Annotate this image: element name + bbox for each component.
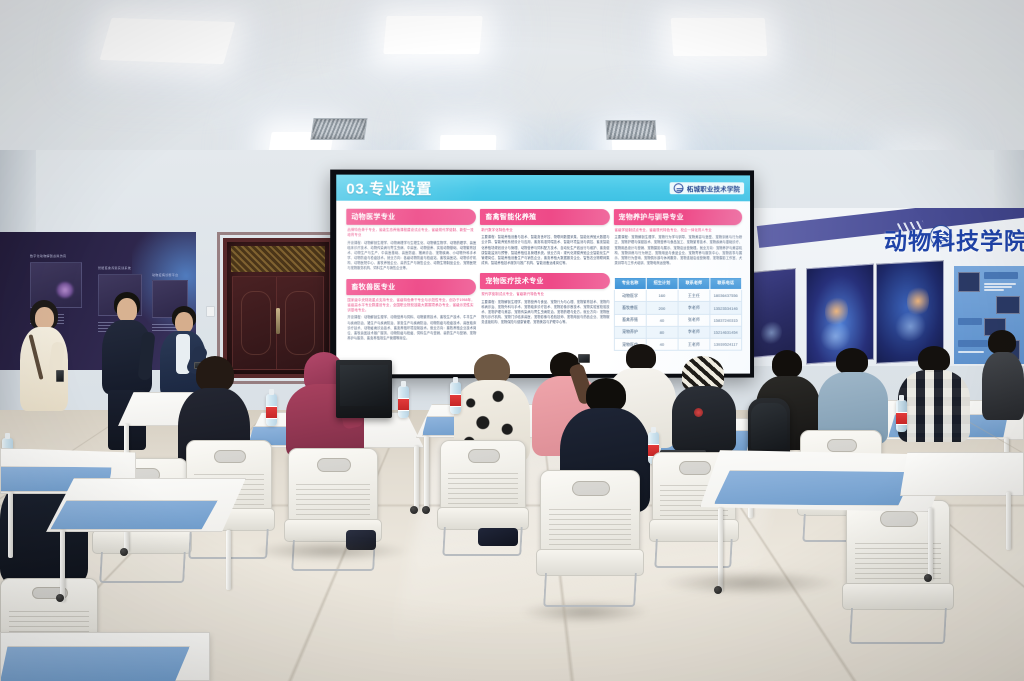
desk-leg [928, 508, 933, 580]
bottle-label [896, 412, 907, 425]
bottle-label [450, 394, 461, 407]
table-row: 畜牧兽医 200 李老师 13523534146 [614, 302, 742, 314]
person-seated-far-right [982, 330, 1024, 420]
program-block: 畜牧兽医专业 国家级中央财政重点支持专业、省级特色骨干专业与示范性专业，创办于1… [346, 279, 476, 342]
chair-back [540, 470, 640, 554]
water-bottle[interactable] [266, 394, 277, 426]
projection-screen: 03.专业设置 柘城职业技术学院 动物医学专业 品牌特色骨干专业，省级生态养殖课… [336, 175, 750, 375]
program-lead: 省级学徒制试点专业，省级现代特色专业，校企一体化育人专业 [615, 228, 743, 233]
hair [196, 356, 234, 392]
exhibit-card-label: 动物疫病诊断平台 [152, 273, 178, 277]
slide-content: 动物医学专业 品牌特色骨干专业，省级生态养殖课程建设试点专业，省级现代学徒制、新… [336, 201, 750, 375]
program-lead: 品牌特色骨干专业，省级生态养殖课程建设试点专业，省级现代学徒制、新型一流培育专业 [347, 228, 476, 239]
table-cell: 200 [646, 302, 678, 314]
door-carving [285, 291, 315, 355]
program-heading: 宠物养护与驯导专业 [614, 209, 743, 225]
program-heading: 畜禽智能化养殖 [480, 209, 609, 225]
slide-title: 03.专业设置 [346, 177, 432, 198]
chair-back [440, 440, 526, 512]
program-body: 开设课程：动物解剖生理学、动物病理学与生理生化、动物微生物学、动物药理学、兽医临… [347, 240, 476, 271]
desk-leg [226, 530, 231, 590]
info-tile-text [984, 283, 1016, 285]
phone[interactable] [578, 354, 590, 363]
photo-glow [894, 311, 927, 342]
program-heading: 畜牧兽医专业 [346, 279, 476, 295]
chair[interactable] [540, 470, 640, 602]
table-row: 宠物养护 80 李老师 15214631454 [614, 326, 742, 338]
person-seated-patterned-headwrap [672, 356, 738, 452]
air-vent-diffuser [605, 120, 656, 140]
program-block: 宠物养护与驯导专业 省级学徒制试点专业，省级现代特色专业，校企一体化育人专业 主… [614, 209, 743, 266]
classroom-photo-scene: 数字化动物解剖虚拟仿真 智能畜禽养殖实训系统 动物疫病诊断平台 动物科技学院 [0, 0, 1024, 681]
floor-shadow [660, 570, 840, 596]
torso [982, 352, 1024, 420]
exhibit-photo [752, 268, 796, 358]
program-lead: 现代学徒制试点专业，省级新兴特色专业 [481, 292, 609, 297]
hair [772, 350, 802, 378]
desk [46, 478, 246, 532]
desk-caster [422, 506, 430, 514]
table-cell: 李老师 [678, 326, 710, 338]
exhibit-specimen-blob [56, 282, 74, 298]
program-lead: 国家级中央财政重点支持专业、省级特色骨干专业与示范性专业，创办于1958年，省级… [347, 298, 476, 314]
chair-legs [543, 573, 637, 607]
table-cell: 畜牧兽医 [614, 302, 646, 314]
info-tile-image [958, 272, 980, 292]
program-block: 宠物医疗技术专业 现代学徒制试点专业，省级新兴特色专业 主要课程：宠物解剖生理学… [480, 273, 609, 325]
head [117, 298, 137, 322]
college-crest-icon [674, 183, 684, 193]
desk-caster [924, 574, 932, 582]
head [35, 307, 54, 329]
head [175, 312, 193, 333]
program-body: 开设课程：动物解剖生理学、动物营养与饲料、动物繁育技术、畜牧生产技术、牛羊生产与… [347, 316, 476, 342]
slide-column-2: 畜禽智能化养殖 新兴数字化特色专业 主要课程：智能养殖设备与技术、智能禽舍环控、… [480, 209, 609, 370]
door-carving [241, 291, 271, 355]
hair [586, 378, 626, 412]
table-cell: 80 [646, 326, 678, 338]
chair-back [846, 500, 950, 588]
desk-caster [410, 506, 418, 514]
table-cell: 40 [646, 314, 678, 326]
table-column-header: 联系电话 [710, 278, 742, 290]
desk-leg [414, 446, 419, 510]
monitor-screen [340, 365, 388, 407]
door-transom-grille [231, 246, 325, 272]
enrollment-table: 专业名称 招生计划 联系老师 联系电话 动物医学 160 王主任 [614, 277, 743, 351]
torso [672, 386, 736, 452]
hair [918, 346, 950, 372]
photo-glow [761, 319, 782, 346]
desk [900, 452, 1024, 496]
chair-back [288, 448, 378, 524]
info-tile-image [996, 296, 1020, 314]
table-column-header: 联系老师 [678, 278, 710, 290]
chair-seat [842, 583, 954, 611]
table-cell: 13939524117 [710, 338, 742, 350]
info-tile-text [984, 289, 1004, 291]
torso [898, 370, 970, 442]
desk-caster [56, 594, 64, 602]
slide-column-1: 动物医学专业 品牌特色骨干专业，省级生态养殖课程建设试点专业，省级现代学徒制、新… [346, 209, 476, 371]
program-heading: 动物医学专业 [346, 209, 476, 225]
table-cell: 160 [646, 290, 678, 302]
jacket-badge [694, 408, 703, 417]
desk-leg [8, 492, 13, 558]
bag[interactable] [478, 528, 518, 546]
person-standing-woman [14, 300, 76, 416]
program-body: 主要课程：宠物解剖生理学、宠物营养与食品、宠物行为与心理、宠物繁育技术、宠物内科… [481, 300, 609, 326]
college-name: 柘城职业技术学院 [687, 183, 740, 193]
desk-leg [1006, 492, 1011, 550]
table-cell: 15214631454 [710, 326, 742, 338]
program-block: 畜禽智能化养殖 新兴数字化特色专业 主要课程：智能养殖设备与技术、智能禽舍环控、… [480, 209, 609, 266]
program-body: 主要课程：宠物解剖生理学、宠物行为学与驯导、宠物美容与造型、宠物训练与行为矫正、… [615, 235, 743, 266]
program-body: 主要课程：智能养殖设备与技术、智能禽舍环控、物联网数据采集、智能化养殖大数据与云… [481, 235, 609, 266]
desk-leg [424, 436, 429, 510]
table-cell: 李老师 [678, 302, 710, 314]
slide-header-bar: 03.专业设置 柘城职业技术学院 [336, 175, 750, 202]
desk-blue-panel [0, 646, 190, 681]
table-cell: 18036437556 [710, 290, 742, 302]
table-column-header: 专业名称 [614, 278, 646, 290]
table-cell: 王主任 [678, 290, 710, 302]
photo-glow [819, 321, 852, 351]
info-tile-title [958, 318, 982, 325]
program-block: 动物医学专业 品牌特色骨干专业，省级生态养殖课程建设试点专业，省级现代学徒制、新… [346, 209, 476, 272]
desk-blue-panel [50, 500, 218, 530]
water-bottle[interactable] [398, 386, 409, 418]
table-column-header: 招生计划 [646, 278, 678, 290]
chair[interactable] [846, 500, 950, 638]
desk [0, 632, 210, 681]
exhibit-card-label: 智能畜禽养殖实训系统 [98, 266, 131, 270]
program-heading: 宠物医疗技术专业 [480, 273, 609, 289]
projection-screen-bezel: 03.专业设置 柘城职业技术学院 动物医学专业 品牌特色骨干专业，省级生态养殖课… [330, 170, 754, 379]
desk-blue-panel [714, 470, 914, 506]
slide-college-logo: 柘城职业技术学院 [670, 182, 744, 194]
phone[interactable] [56, 370, 64, 382]
info-tile-text [984, 286, 1012, 288]
water-bottle[interactable] [896, 400, 907, 432]
table-cell: 15837240315 [710, 314, 742, 326]
desk-leg [60, 530, 65, 602]
table-cell: 13523534146 [710, 302, 742, 314]
desk-caster [120, 548, 128, 556]
exhibit-wall-title: 动物科技学院 [884, 222, 1024, 256]
table-header-row: 专业名称 招生计划 联系老师 联系电话 [614, 278, 742, 290]
person-standing-man-navy [100, 292, 158, 452]
table-cell: 动物医学 [614, 290, 646, 302]
table-cell: 宠物养护 [614, 326, 646, 338]
ceiling-light-panel [100, 18, 236, 64]
ceiling-light-panel [671, 18, 768, 56]
hair [988, 330, 1016, 354]
bottle-label [266, 406, 277, 419]
table-cell: 张老师 [678, 314, 710, 326]
person-seated-plaid-shirt [898, 346, 972, 442]
water-bottle[interactable] [450, 382, 461, 414]
hair [626, 344, 656, 370]
floor-shadow [250, 540, 410, 562]
table-row: 畜禽养殖 40 张老师 15837240315 [614, 314, 742, 326]
desk-top [900, 452, 1024, 496]
air-vent-diffuser [310, 118, 367, 140]
door-handle[interactable] [277, 308, 280, 334]
table-row: 动物医学 160 王主任 18036437556 [614, 290, 742, 302]
chair-seat [536, 549, 644, 575]
table-cell: 畜禽养殖 [614, 314, 646, 326]
table-cell: 王老师 [678, 338, 710, 350]
info-tile-title [984, 272, 1018, 279]
desk-monitor[interactable] [336, 360, 392, 418]
chair-legs [849, 608, 947, 644]
bottle-label [398, 398, 409, 411]
chair-seat [92, 530, 191, 554]
chair-legs [99, 552, 185, 583]
monitor-screen [751, 403, 787, 449]
exhibit-card-label: 数字化动物解剖虚拟仿真 [30, 254, 66, 258]
program-lead: 新兴数字化特色专业 [481, 228, 609, 233]
ceiling-light-panel [383, 16, 482, 54]
hair [836, 348, 868, 374]
